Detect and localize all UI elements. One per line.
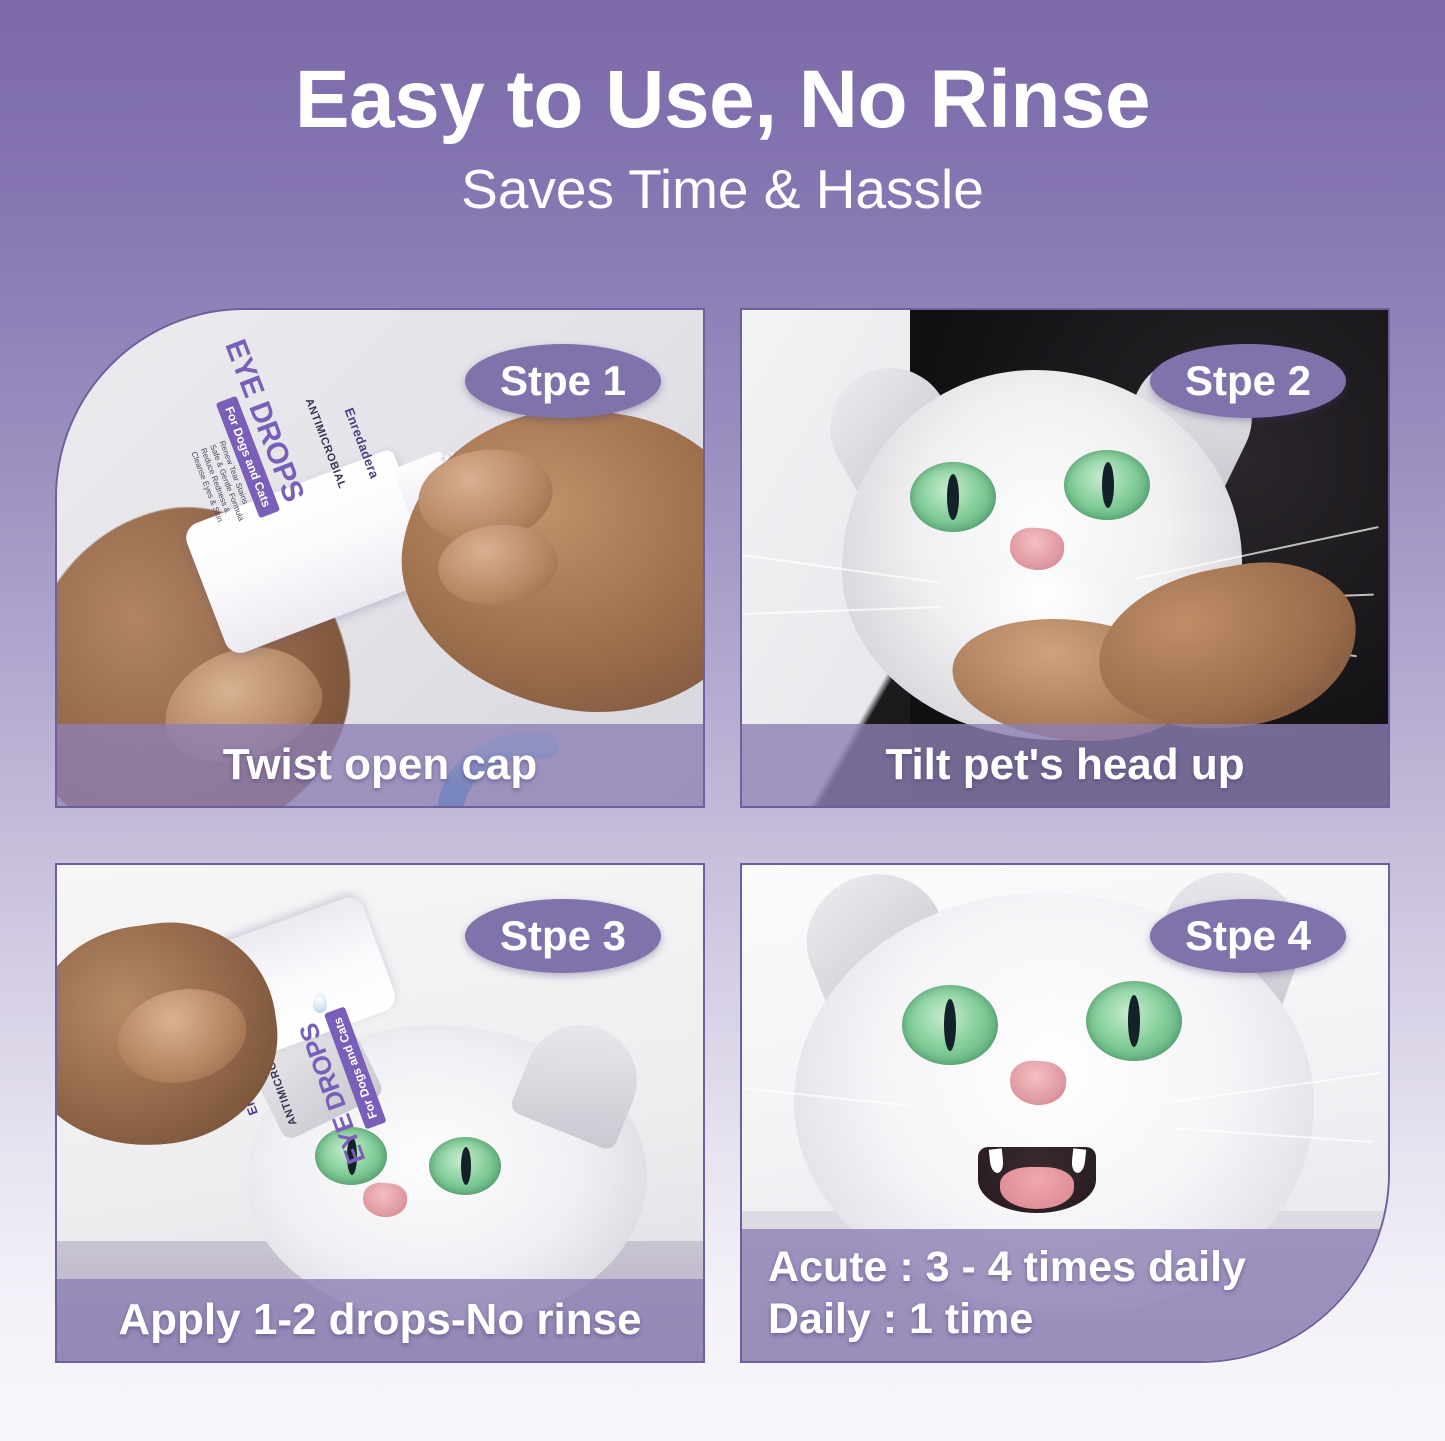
step-panel-2[interactable]: Stpe 2 Tilt pet's head up <box>740 308 1390 808</box>
step-panel-1[interactable]: Enredadera ANTIMICROBIAL EYE DROPS For D… <box>55 308 705 808</box>
cat-tongue <box>1000 1167 1074 1209</box>
step-caption-2: Tilt pet's head up <box>742 724 1388 806</box>
cat-pupil <box>1128 995 1140 1047</box>
cat-pupil <box>947 474 959 520</box>
header: Easy to Use, No Rinse Saves Time & Hassl… <box>0 0 1445 220</box>
eye-drop-icon <box>313 993 327 1013</box>
step-caption-4: Acute : 3 - 4 times daily Daily : 1 time <box>742 1229 1388 1361</box>
step-panel-3[interactable]: Enredadera ANTIMICROBIAL EYE DROPS For D… <box>55 863 705 1363</box>
cat-pupil <box>944 999 956 1051</box>
step-badge-1: Stpe 1 <box>465 344 661 418</box>
step-badge-4: Stpe 4 <box>1150 899 1346 973</box>
step-caption-4-line-2: Daily : 1 time <box>768 1293 1388 1345</box>
page-subtitle: Saves Time & Hassle <box>0 144 1445 220</box>
step-badge-2: Stpe 2 <box>1150 344 1346 418</box>
step-caption-3: Apply 1-2 drops-No rinse <box>57 1279 703 1361</box>
page-title: Easy to Use, No Rinse <box>0 0 1445 144</box>
step-caption-1: Twist open cap <box>57 724 703 806</box>
step-panel-4[interactable]: Stpe 4 Acute : 3 - 4 times daily Daily :… <box>740 863 1390 1363</box>
step-caption-4-line-1: Acute : 3 - 4 times daily <box>768 1241 1388 1293</box>
steps-grid: Enredadera ANTIMICROBIAL EYE DROPS For D… <box>0 308 1445 1418</box>
step-badge-3: Stpe 3 <box>465 899 661 973</box>
cat-pupil <box>461 1147 471 1185</box>
cat-pupil <box>1102 462 1114 508</box>
